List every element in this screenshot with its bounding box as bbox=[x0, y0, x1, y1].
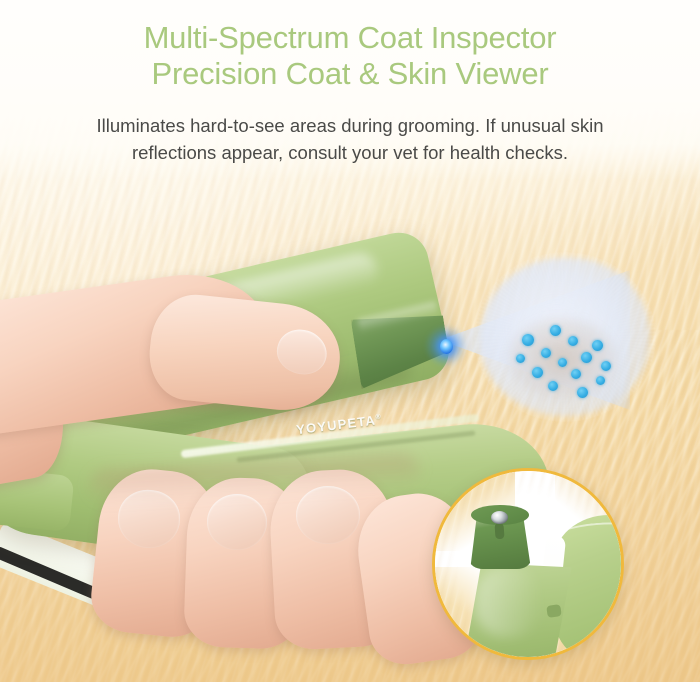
header-banner: Multi-Spectrum Coat Inspector Precision … bbox=[0, 0, 700, 180]
product-marketing-image: ☀ ○ ☀ YOYUPETA® bbox=[0, 0, 700, 700]
subtitle-line-2: reflections appear, consult your vet for… bbox=[24, 139, 676, 166]
inset-led-lens bbox=[491, 511, 508, 524]
inset-shell-latch bbox=[546, 604, 562, 618]
device-tip-detail-inset bbox=[432, 468, 624, 660]
page-title: Multi-Spectrum Coat Inspector Precision … bbox=[0, 20, 700, 92]
title-line-1: Multi-Spectrum Coat Inspector bbox=[144, 20, 557, 55]
bottom-white-strip bbox=[0, 682, 700, 700]
subtitle-line-1: Illuminates hard-to-see areas during gro… bbox=[24, 112, 676, 139]
inset-led-slot bbox=[494, 523, 504, 540]
page-subtitle: Illuminates hard-to-see areas during gro… bbox=[24, 112, 676, 166]
inset-body-highlight bbox=[475, 567, 541, 637]
title-line-2: Precision Coat & Skin Viewer bbox=[0, 56, 700, 92]
